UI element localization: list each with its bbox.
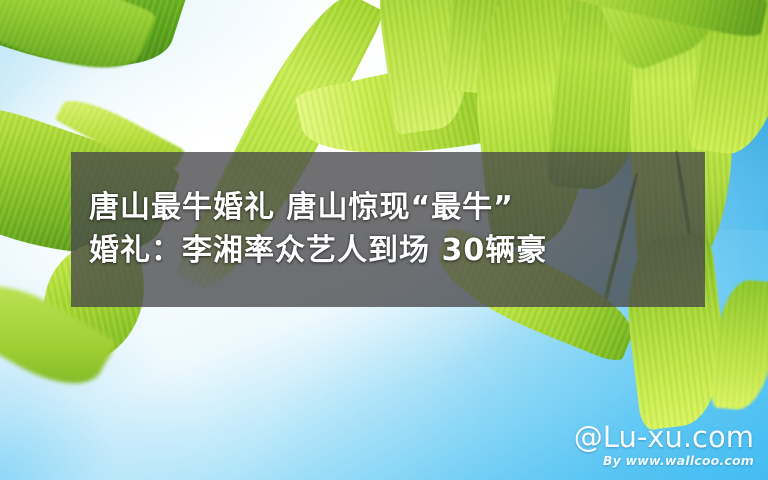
- caption-line-1: 唐山最牛婚礼 唐山惊现“最牛”: [89, 187, 514, 230]
- watermark-source-credit: By www.wallcoo.com: [574, 453, 754, 468]
- caption-text-block: 唐山最牛婚礼 唐山惊现“最牛” 婚礼：李湘率众艺人到场 30辆豪: [71, 152, 705, 307]
- watermark: @Lu-xu.com By www.wallcoo.com: [574, 423, 754, 468]
- watermark-site-name: @Lu-xu.com: [574, 423, 754, 452]
- image-canvas: 唐山最牛婚礼 唐山惊现“最牛” 婚礼：李湘率众艺人到场 30辆豪 @Lu-xu.…: [0, 0, 768, 480]
- caption-line-2: 婚礼：李湘率众艺人到场 30辆豪: [89, 230, 547, 273]
